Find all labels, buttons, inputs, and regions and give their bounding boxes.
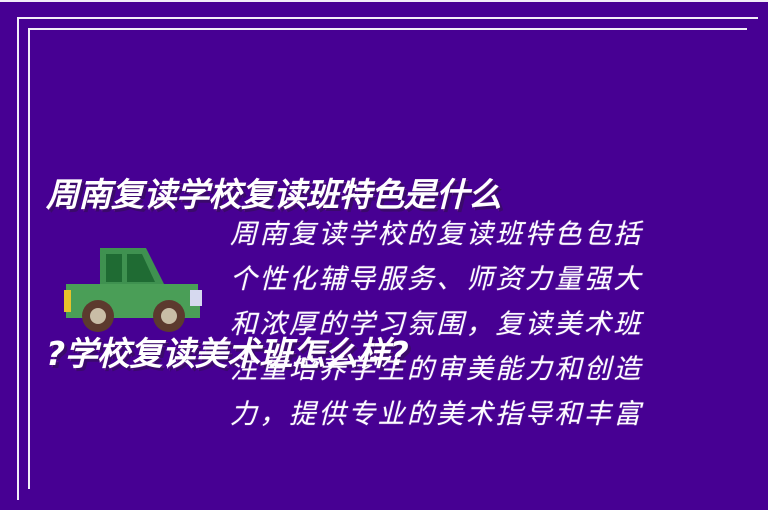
truck-rear-hub — [90, 308, 106, 324]
truck-rear-window — [106, 254, 122, 282]
body-line-4: 注重培养学生的审美能力和创造 — [230, 347, 654, 392]
poster-canvas: 周南复读学校复读班特色是什么 ?学校复读美术班怎么样? 周南复读学校的复读班特色… — [0, 0, 768, 510]
inner-border-frame-bottom-right — [0, 0, 768, 2]
body-line-3: 和浓厚的学习氛围，复读美术班 — [230, 302, 654, 347]
truck-taillight — [64, 290, 71, 312]
truck-headlight — [190, 290, 202, 306]
green-pickup-truck-icon — [62, 240, 214, 340]
truck-front-hub — [161, 308, 177, 324]
body-paragraph: 周南复读学校的复读班特色包括 个性化辅导服务、师资力量强大 和浓厚的学习氛围，复… — [230, 212, 654, 437]
body-line-2: 个性化辅导服务、师资力量强大 — [230, 257, 654, 302]
body-line-5: 力，提供专业的美术指导和丰富 — [230, 392, 654, 437]
body-line-1: 周南复读学校的复读班特色包括 — [230, 212, 654, 257]
